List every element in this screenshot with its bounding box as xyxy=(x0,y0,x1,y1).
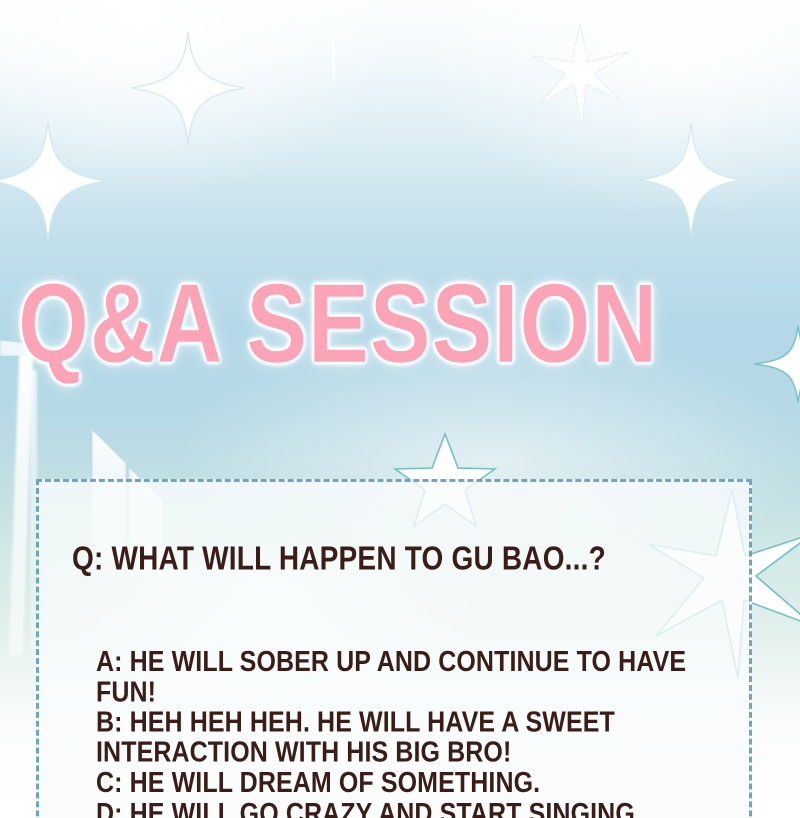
question-text: Q: WHAT WILL HAPPEN TO GU BAO...? xyxy=(72,541,606,576)
background-haze-top-right xyxy=(420,0,800,220)
sparkle-four-point-left-icon xyxy=(0,118,108,244)
background-haze-top-left xyxy=(0,0,400,200)
answer-option-a: A: HE WILL SOBER UP AND CONTINUE TO HAVE… xyxy=(96,648,696,707)
answer-list: A: HE WILL SOBER UP AND CONTINUE TO HAVE… xyxy=(96,648,696,818)
building-pillar-shape xyxy=(9,355,33,655)
answer-option-c: C: HE WILL DREAM OF SOMETHING. xyxy=(96,769,696,799)
answer-option-b: B: HEH HEH HEH. HE WILL HAVE A SWEET INT… xyxy=(96,708,696,767)
sparkle-four-point-right-icon xyxy=(636,120,746,240)
sparkle-streak-top-center-icon xyxy=(325,28,341,90)
qa-session-panel: Q&A SESSION Q: WHAT WILL HAPPEN TO GU BA… xyxy=(0,0,800,818)
answer-option-d: D: HE WILL GO CRAZY AND START SINGING xyxy=(96,799,696,818)
page-title: Q&A SESSION xyxy=(18,268,770,380)
sparkle-four-point-upper-left-icon xyxy=(128,28,248,148)
sparkle-seven-point-upper-right-icon xyxy=(528,22,632,130)
